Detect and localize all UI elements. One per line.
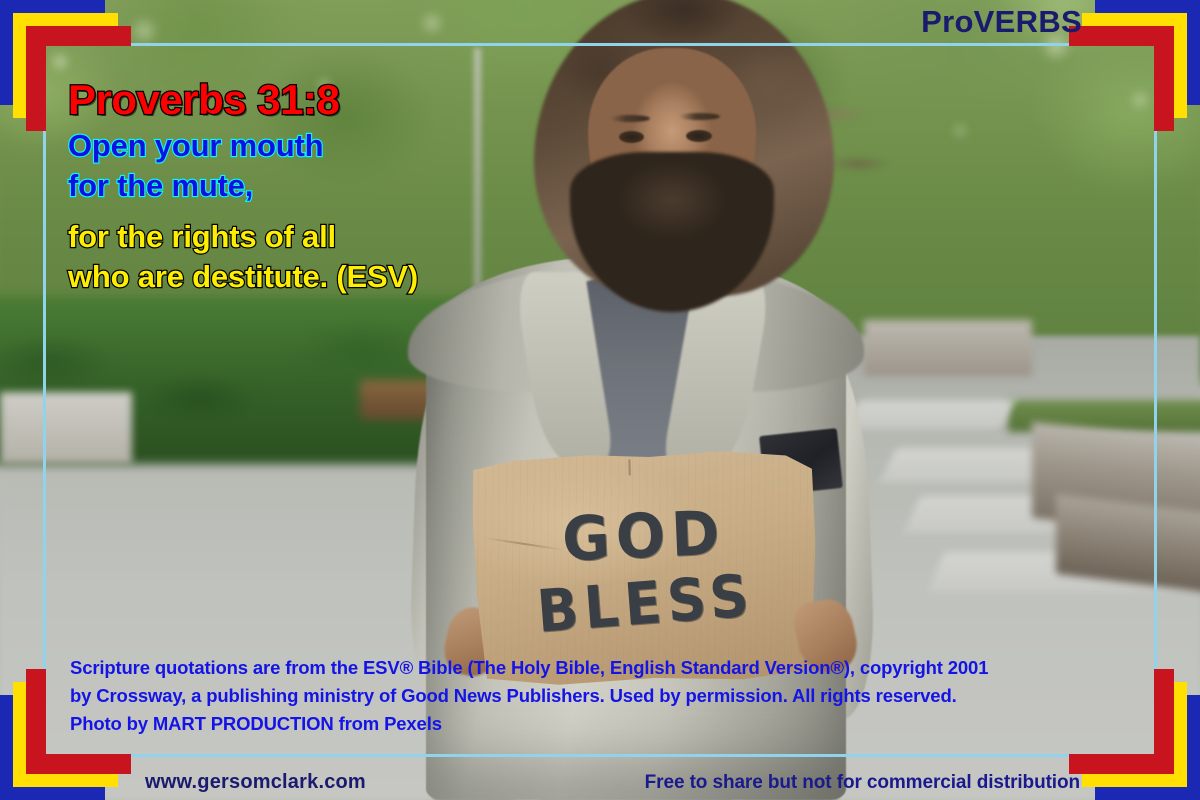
footer-usage-notice: Free to share but not for commercial dis… [645,772,1080,794]
sign-line-god: GOD [561,496,727,574]
verse-line-1: Open your mouth [68,126,498,166]
credit-line-1: Scripture quotations are from the ESV® B… [70,654,1090,682]
sign-text: GOD BLESS [471,448,819,688]
credit-line-2: by Crossway, a publishing ministry of Go… [70,682,1090,710]
verse-line-3: for the rights of all [68,217,498,257]
eyebrow-right [679,113,720,120]
footer-website[interactable]: www.gersomclark.com [145,771,366,794]
proverbs-verse-poster: GOD BLESS ProVERBS [0,0,1200,800]
verse-block: Proverbs 31:8 Open your mouth for the mu… [68,78,498,297]
brand-logo-proverbs: ProVERBS [921,4,1082,40]
verse-line-2: for the mute, [68,166,498,206]
verse-line-4: who are destitute. (ESV) [68,257,498,297]
cardboard-sign: GOD BLESS [471,448,819,688]
eye-right [686,130,711,142]
credit-line-3: Photo by MART PRODUCTION from Pexels [70,710,1090,738]
verse-reference: Proverbs 31:8 [68,78,498,122]
scripture-credit: Scripture quotations are from the ESV® B… [70,654,1090,738]
